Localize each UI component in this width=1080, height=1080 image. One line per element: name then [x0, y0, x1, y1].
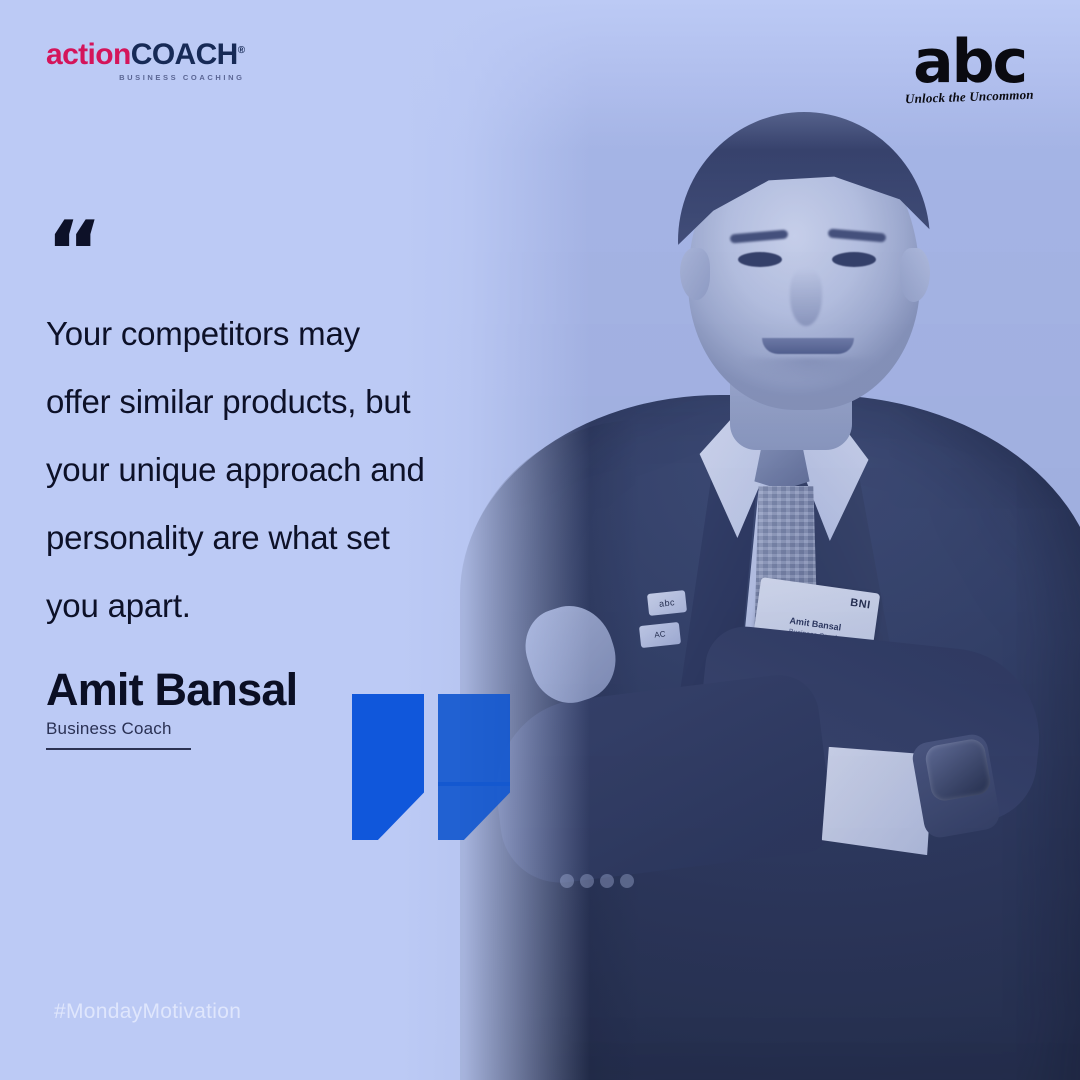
- logo-word-action: action: [46, 38, 131, 71]
- lapel-pin-ac: AC: [639, 622, 681, 648]
- opening-quotation-mark-icon: “: [46, 228, 105, 280]
- hashtag-label: #MondayMotivation: [54, 1000, 241, 1024]
- author-divider: [46, 748, 191, 750]
- logo-word-coach: COACH: [131, 38, 238, 71]
- author-block: Amit Bansal Business Coach: [46, 666, 297, 750]
- author-role: Business Coach: [46, 719, 297, 739]
- quote-line: you apart.: [46, 572, 516, 640]
- name-badge-logo: BNI: [849, 597, 871, 612]
- quote-line: offer similar products, but: [46, 368, 516, 436]
- registered-trademark-icon: ®: [238, 45, 245, 56]
- author-name: Amit Bansal: [46, 666, 297, 713]
- chin-shadow: [740, 358, 876, 398]
- sleeve-buttons: [560, 874, 656, 890]
- smartwatch-icon: [924, 737, 993, 803]
- actioncoach-logo[interactable]: actionCOACH® BUSINESS COACHING: [46, 40, 245, 82]
- quote-text: Your competitors may offer similar produ…: [46, 300, 516, 640]
- eye-right: [832, 252, 876, 267]
- abc-tagline: Unlock the Uncommon: [905, 87, 1034, 107]
- actioncoach-wordmark: actionCOACH®: [46, 40, 245, 70]
- quote-line: Your competitors may: [46, 300, 516, 368]
- quote-line: your unique approach and: [46, 436, 516, 504]
- actioncoach-tagline: BUSINESS COACHING: [46, 73, 245, 82]
- nose: [790, 268, 822, 326]
- eye-left: [738, 252, 782, 267]
- ear-left: [680, 248, 710, 300]
- lapel-pin-abc: abc: [647, 590, 687, 616]
- mouth: [762, 338, 854, 354]
- ear-right: [900, 248, 930, 302]
- quote-line: personality are what set: [46, 504, 516, 572]
- abc-wordmark: abc: [905, 34, 1034, 91]
- abc-logo[interactable]: abc Unlock the Uncommon: [905, 34, 1034, 105]
- poster-canvas: abc AC BNI Amit Bansal Business Coach: [0, 0, 1080, 1080]
